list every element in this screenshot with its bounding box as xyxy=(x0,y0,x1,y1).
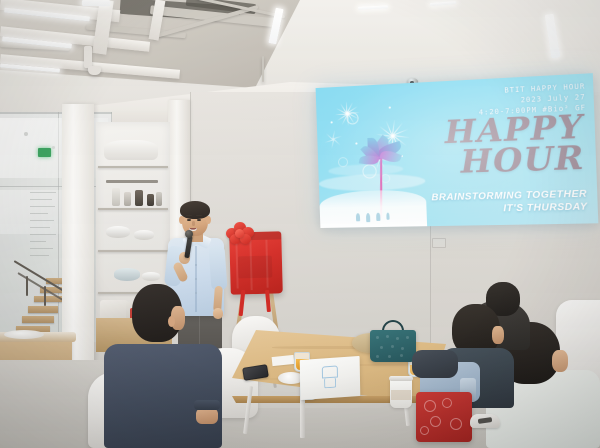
presenter-ear-right xyxy=(206,216,211,224)
shelf-object-bottle-1 xyxy=(112,188,120,206)
shelf-object-bowl-4 xyxy=(142,272,160,281)
photo-scene: BTIT HAPPY HOUR 2023 July 27 4:20-7:00PM… xyxy=(0,0,600,448)
projected-slide: BTIT HAPPY HOUR 2023 July 27 4:20-7:00PM… xyxy=(316,73,599,228)
beach-figure-3 xyxy=(376,213,380,221)
table-leg-center xyxy=(300,394,305,438)
audience-navy-torso xyxy=(104,344,222,448)
shelf-object-vase xyxy=(104,140,158,160)
presenter-nose xyxy=(192,221,195,226)
audience-navy-ear xyxy=(168,316,175,327)
shelf-object-bottle-3 xyxy=(135,190,143,206)
ceiling-pendant-rod xyxy=(262,56,264,82)
ceiling-downlight-reflection xyxy=(24,132,28,136)
beach-figure-2 xyxy=(366,213,370,222)
ceiling-pendant xyxy=(84,46,92,68)
presenter-eye-left xyxy=(187,219,191,221)
ceiling-light-strip-4 xyxy=(82,0,110,6)
beach-shoreline xyxy=(319,189,427,228)
slide-tagline: BRAINSTORMING TOGETHER IT'S THURSDAY xyxy=(431,187,588,216)
slide-title: HAPPY HOUR xyxy=(444,112,585,178)
stair-baluster xyxy=(26,276,28,296)
ceiling-pendant-shade xyxy=(88,66,101,75)
shelf-object-bottle-5 xyxy=(156,192,162,206)
beach-figure-1 xyxy=(356,213,360,221)
presenter-ear-left xyxy=(179,216,184,224)
ceiling-downlight-reflection-2 xyxy=(52,146,55,149)
beach-figure-4 xyxy=(386,213,389,220)
glass-signage xyxy=(30,192,60,262)
presenter-eye-right xyxy=(197,219,201,221)
presenter-hand-right xyxy=(213,308,223,319)
coffee-cup[interactable] xyxy=(390,378,412,408)
wall-outlet xyxy=(432,238,446,248)
presenter-hair xyxy=(180,201,210,219)
presenter-sleeve-right xyxy=(208,245,227,290)
slide-graphic-panel xyxy=(316,82,427,228)
stair-baluster-2 xyxy=(44,286,46,306)
audience-light-face xyxy=(552,350,568,372)
shelf-object-bowl-2 xyxy=(134,230,154,240)
audience-bob-face xyxy=(492,326,504,344)
sign-board[interactable] xyxy=(300,356,361,400)
shelf-object-bottle-2 xyxy=(124,192,131,206)
counter-tray xyxy=(4,330,44,339)
ribbon-flower-ornament xyxy=(226,222,254,246)
audience-navy-hand xyxy=(196,408,218,424)
exit-sign-icon xyxy=(38,148,51,157)
slide-title-line-2: HOUR xyxy=(460,143,585,177)
shelf-object-bowl-3 xyxy=(114,268,140,281)
cloud-band xyxy=(319,173,426,192)
red-floral-bag xyxy=(416,392,472,442)
shelf-object-bowl-1 xyxy=(106,226,130,238)
glass-mullion-top xyxy=(0,112,112,114)
firework-icon-4 xyxy=(323,129,344,150)
shelf-object-rod xyxy=(106,180,158,183)
shelf-object-bottle-4 xyxy=(147,194,154,206)
audience-jeans-sleeve xyxy=(412,350,458,378)
audience-navy-sleeve-cuff xyxy=(194,400,220,410)
microphone-icon[interactable] xyxy=(185,230,193,238)
handbag xyxy=(370,330,416,362)
